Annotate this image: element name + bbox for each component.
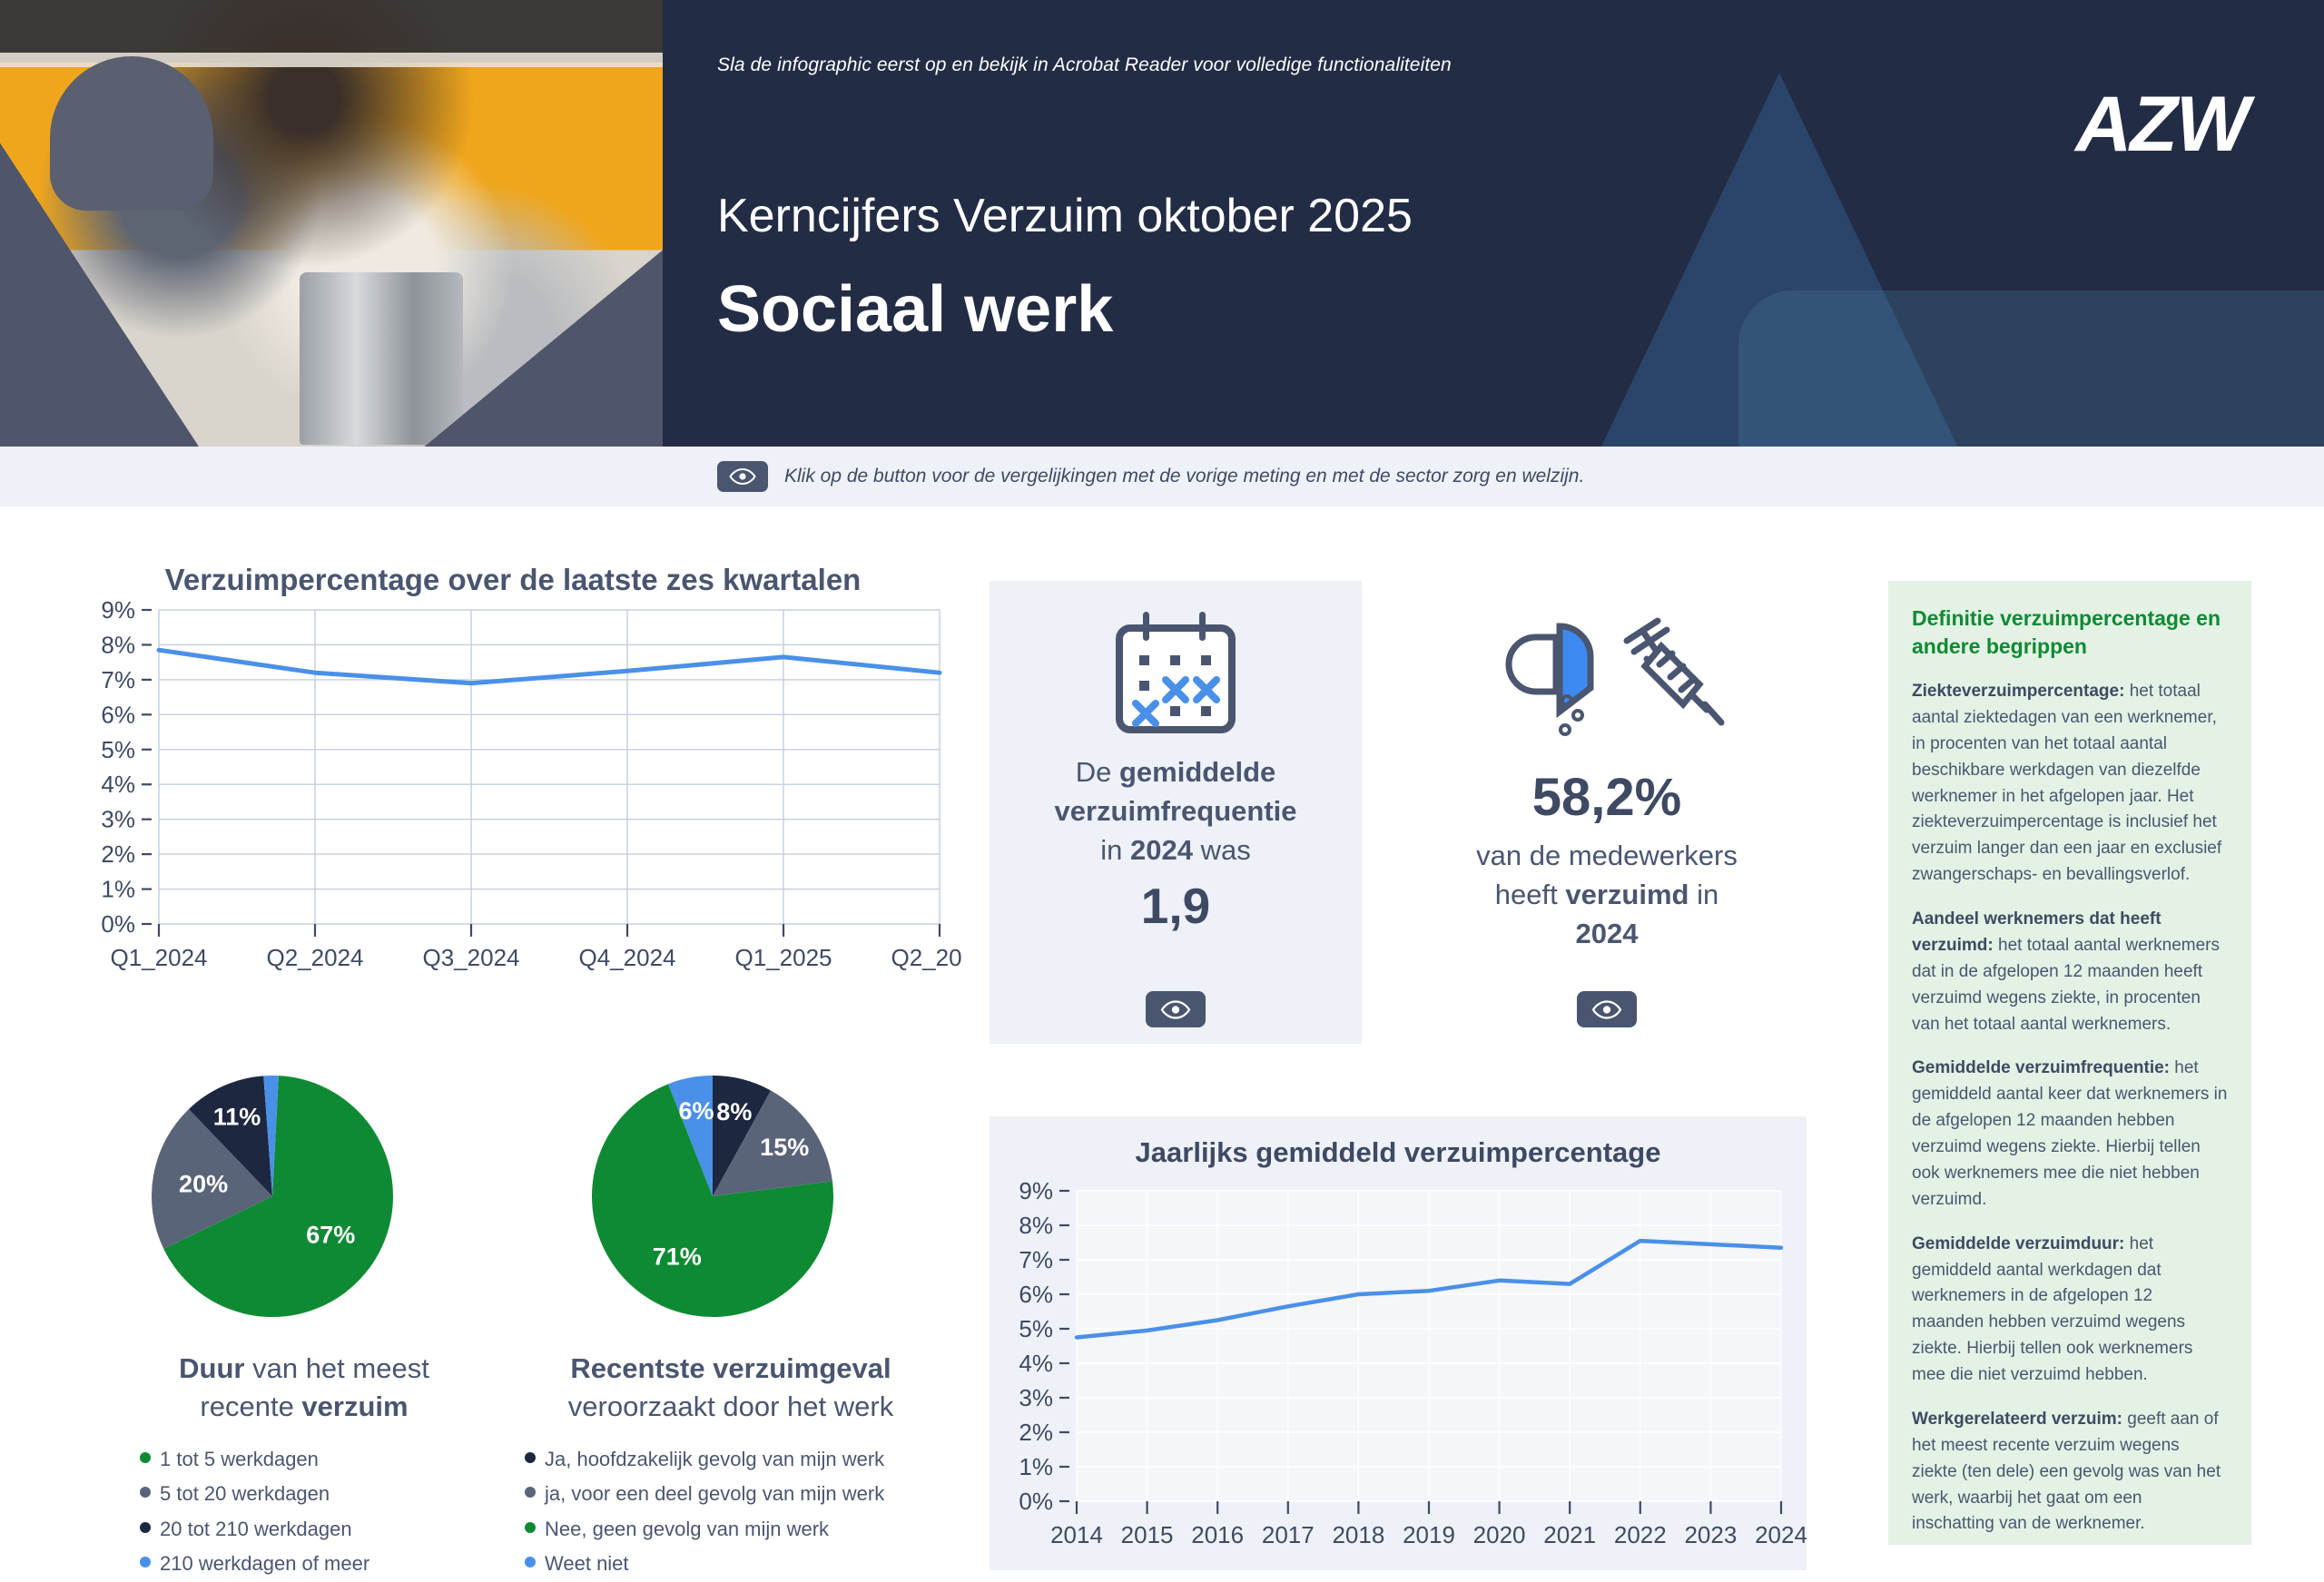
eye-icon: [1591, 999, 1622, 1020]
definition-body: het totaal aantal ziektedagen van een we…: [1912, 682, 2221, 884]
legend-label: ja, voor een deel gevolg van mijn werk: [545, 1477, 884, 1512]
svg-text:Q2_2025: Q2_2025: [891, 944, 962, 971]
legend-item: Weet niet: [525, 1547, 944, 1582]
legend-label: Weet niet: [545, 1547, 629, 1582]
svg-text:7%: 7%: [1019, 1246, 1053, 1273]
legend-color-dot: [140, 1522, 151, 1533]
svg-text:6%: 6%: [101, 701, 135, 728]
pie-charts-section: 67%20%11%2% Duur van het meest recente v…: [64, 1062, 971, 1570]
svg-text:20%: 20%: [179, 1170, 228, 1197]
duration-caption-bold2: verzuim: [301, 1390, 408, 1422]
legend-item: ja, voor een deel gevolg van mijn werk: [525, 1477, 944, 1512]
svg-text:1%: 1%: [1019, 1453, 1053, 1480]
duration-caption-bold1: Duur: [179, 1352, 244, 1384]
duration-caption-plain1: van het meest: [244, 1352, 428, 1384]
yearly-chart-plot: 0%1%2%3%4%5%6%7%8%9%20142015201620172018…: [990, 1169, 1807, 1568]
svg-text:0%: 0%: [101, 910, 135, 938]
svg-text:2016: 2016: [1191, 1521, 1244, 1548]
legend-color-dot: [525, 1522, 536, 1533]
svg-text:5%: 5%: [1019, 1315, 1053, 1342]
definition-term: Gemiddelde verzuimduur:: [1912, 1234, 2124, 1253]
hero-photo-container: [0, 0, 663, 447]
definitions-heading: Definitie verzuimpercentage en andere be…: [1912, 604, 2228, 661]
definitions-panel: Definitie verzuimpercentage en andere be…: [1888, 581, 2251, 1545]
definition-item: Werkgerelateerd verzuim: geeft aan of he…: [1912, 1407, 2228, 1538]
banner-eye-button[interactable]: [717, 461, 768, 492]
legend-label: Nee, geen gevolg van mijn werk: [545, 1512, 829, 1548]
svg-text:2022: 2022: [1614, 1521, 1667, 1548]
svg-text:2020: 2020: [1473, 1521, 1526, 1548]
share-line2-b: in: [1689, 879, 1718, 910]
definition-item: Gemiddelde verzuimfrequentie: het gemidd…: [1912, 1056, 2228, 1213]
freq-line2-bold: verzuimfrequentie: [1054, 795, 1296, 827]
legend-label: Ja, hoofdzakelijk gevolg van mijn werk: [545, 1442, 884, 1478]
svg-text:71%: 71%: [653, 1243, 702, 1270]
cause-pie-legend: Ja, hoofdzakelijk gevolg van mijn werkja…: [517, 1442, 944, 1582]
svg-text:4%: 4%: [101, 771, 135, 798]
definition-item: Gemiddelde verzuimduur: het gemiddeld aa…: [1912, 1232, 2228, 1389]
legend-color-dot: [525, 1557, 536, 1567]
svg-text:67%: 67%: [306, 1222, 355, 1249]
share-eye-button[interactable]: [1577, 991, 1637, 1027]
absence-share-card: 58,2% van de medewerkers heeft verzuimd …: [1362, 581, 1852, 1044]
duration-caption-plain2: recente: [200, 1390, 301, 1422]
svg-text:2023: 2023: [1684, 1521, 1737, 1548]
cause-pie-chart: 8%15%71%6%: [517, 1062, 944, 1334]
definition-item: Ziekteverzuimpercentage: het totaal aant…: [1912, 679, 2228, 889]
svg-text:0%: 0%: [1019, 1488, 1053, 1515]
legend-color-dot: [140, 1487, 151, 1498]
legend-label: 5 tot 20 werkdagen: [160, 1477, 330, 1512]
svg-text:6%: 6%: [679, 1097, 714, 1125]
frequency-eye-button[interactable]: [1146, 991, 1206, 1027]
definitions-list: Ziekteverzuimpercentage: het totaal aant…: [1912, 679, 2228, 1538]
freq-line1-plain: De: [1076, 756, 1119, 788]
legend-item: 5 tot 20 werkdagen: [140, 1477, 517, 1512]
pill-syringe-icon: [1489, 608, 1725, 767]
svg-text:2%: 2%: [253, 1062, 289, 1072]
legend-item: Nee, geen gevolg van mijn werk: [525, 1512, 944, 1548]
legend-item: Ja, hoofdzakelijk gevolg van mijn werk: [525, 1442, 944, 1478]
photo-beanie: [50, 56, 213, 211]
svg-text:8%: 8%: [716, 1098, 752, 1125]
legend-color-dot: [525, 1452, 536, 1463]
svg-text:5%: 5%: [101, 736, 135, 763]
page-title: Sociaal werk: [717, 272, 1113, 347]
svg-text:2015: 2015: [1121, 1521, 1174, 1548]
duration-pie-caption: Duur van het meest recente verzuim: [91, 1350, 517, 1426]
svg-text:8%: 8%: [1019, 1212, 1053, 1239]
legend-color-dot: [140, 1452, 151, 1463]
share-line3-bold: 2024: [1576, 918, 1639, 949]
quarterly-absence-chart: Verzuimpercentage over de laatste zes kw…: [64, 563, 962, 989]
svg-text:2017: 2017: [1262, 1521, 1315, 1548]
svg-text:7%: 7%: [101, 666, 135, 693]
definition-item: Aandeel werknemers dat heeft verzuimd: h…: [1912, 907, 2228, 1037]
svg-text:2024: 2024: [1755, 1521, 1807, 1548]
legend-color-dot: [525, 1487, 536, 1498]
share-line2-a: heeft: [1495, 879, 1566, 910]
duration-pie-chart: 67%20%11%2%: [91, 1062, 517, 1334]
soup-kitchen-photo: [0, 0, 663, 447]
svg-text:2%: 2%: [101, 840, 135, 868]
svg-text:Q4_2024: Q4_2024: [579, 944, 676, 971]
svg-text:2018: 2018: [1332, 1521, 1384, 1548]
freq-line3-bold: 2024: [1130, 834, 1193, 866]
eye-icon: [729, 467, 756, 486]
svg-text:15%: 15%: [760, 1134, 809, 1161]
yearly-absence-chart: Jaarlijks gemiddeld verzuimpercentage 0%…: [990, 1116, 1807, 1570]
svg-text:6%: 6%: [1019, 1281, 1053, 1308]
pill-icon: [1509, 626, 1590, 734]
legend-label: 210 werkdagen of meer: [160, 1547, 369, 1582]
legend-label: 20 tot 210 werkdagen: [160, 1512, 352, 1548]
freq-line1-bold: gemiddelde: [1119, 756, 1275, 788]
legend-item: 1 tot 5 werkdagen: [140, 1442, 517, 1478]
freq-line3-a: in: [1100, 834, 1130, 866]
syringe-icon: [1627, 621, 1721, 722]
cause-pie-caption: Recentste verzuimgeval veroorzaakt door …: [517, 1350, 944, 1426]
svg-text:1%: 1%: [101, 876, 135, 903]
cause-pie-block: 8%15%71%6% Recentste verzuimgeval veroor…: [517, 1062, 944, 1582]
legend-item: 20 tot 210 werkdagen: [140, 1512, 517, 1548]
duration-pie-legend: 1 tot 5 werkdagen5 tot 20 werkdagen20 to…: [91, 1442, 517, 1582]
duration-pie-block: 67%20%11%2% Duur van het meest recente v…: [91, 1062, 517, 1582]
share-line1: van de medewerkers: [1476, 840, 1738, 871]
cause-caption-plain1: veroorzaakt door het werk: [568, 1390, 893, 1422]
photo-cooking-pot: [300, 272, 463, 445]
svg-text:9%: 9%: [101, 596, 135, 624]
quarterly-chart-plot: 0%1%2%3%4%5%6%7%8%9%Q1_2024Q2_2024Q3_202…: [64, 563, 962, 989]
yearly-chart-title: Jaarlijks gemiddeld verzuimpercentage: [990, 1116, 1807, 1169]
legend-label: 1 tot 5 werkdagen: [160, 1442, 319, 1478]
cause-caption-bold1: Recentste verzuimgeval: [570, 1352, 891, 1384]
svg-text:Q1_2024: Q1_2024: [111, 944, 208, 971]
definition-body: het gemiddeld aantal keer dat werknemers…: [1912, 1058, 2227, 1208]
svg-text:Q2_2024: Q2_2024: [267, 944, 364, 971]
share-value: 58,2%: [1532, 767, 1681, 828]
svg-text:3%: 3%: [101, 806, 135, 833]
svg-text:2%: 2%: [1019, 1419, 1053, 1446]
svg-text:2021: 2021: [1543, 1521, 1596, 1548]
definition-term: Ziekteverzuimpercentage:: [1912, 682, 2124, 701]
acrobat-hint: Sla de infographic eerst op en bekijk in…: [717, 54, 1452, 76]
legend-color-dot: [140, 1557, 151, 1567]
azw-logo: AZW: [2075, 80, 2248, 170]
comparison-banner: Klik op de button voor de vergelijkingen…: [0, 447, 2324, 506]
frequency-value: 1,9: [1141, 877, 1210, 935]
svg-text:2014: 2014: [1050, 1521, 1103, 1548]
header-subtitle: Kerncijfers Verzuim oktober 2025: [717, 189, 1413, 243]
legend-item: 210 werkdagen of meer: [140, 1547, 517, 1582]
svg-text:8%: 8%: [101, 631, 135, 658]
svg-text:11%: 11%: [213, 1104, 261, 1131]
rounded-rect-decoration: [1738, 290, 2324, 447]
svg-text:3%: 3%: [1019, 1384, 1053, 1411]
frequency-caption: De gemiddelde verzuimfrequentie in 2024 …: [1054, 753, 1296, 870]
svg-text:Q3_2024: Q3_2024: [423, 944, 520, 971]
svg-text:Q1_2025: Q1_2025: [735, 944, 832, 971]
definition-body: het gemiddeld aantal werkdagen dat werkn…: [1912, 1234, 2192, 1384]
definition-term: Gemiddelde verzuimfrequentie:: [1912, 1058, 2170, 1077]
absence-frequency-card: De gemiddelde verzuimfrequentie in 2024 …: [990, 581, 1362, 1044]
freq-line3-b: was: [1193, 834, 1251, 866]
share-line2-bold: verzuimd: [1565, 879, 1689, 910]
page-header: Sla de infographic eerst op en bekijk in…: [0, 0, 2324, 447]
share-caption: van de medewerkers heeft verzuimd in 202…: [1476, 837, 1738, 953]
svg-text:4%: 4%: [1019, 1350, 1053, 1377]
definition-term: Werkgerelateerd verzuim:: [1912, 1410, 2122, 1429]
eye-icon: [1160, 999, 1191, 1020]
svg-text:2019: 2019: [1403, 1521, 1455, 1548]
calendar-icon: [1103, 608, 1248, 744]
svg-text:9%: 9%: [1019, 1177, 1053, 1204]
banner-text: Klik op de button voor de vergelijkingen…: [784, 466, 1584, 487]
